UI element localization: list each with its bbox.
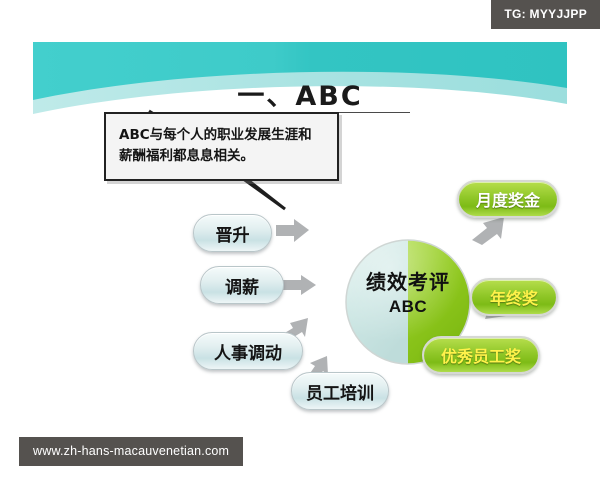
arrow-promotion-to-core: [276, 218, 310, 244]
callout-box: ABC与每个人的职业发展生涯和 薪酬福利都息息相关。: [104, 112, 339, 181]
node-promotion[interactable]: 晋升: [193, 214, 272, 252]
node-promotion-label: 晋升: [216, 221, 250, 246]
node-excellent-employee-award[interactable]: 优秀员工奖: [422, 336, 540, 374]
arrow-salary-to-core: [283, 274, 317, 296]
node-monthly-bonus[interactable]: 月度奖金: [457, 180, 559, 218]
callout-line-2: 薪酬福利都息息相关。: [119, 146, 325, 167]
node-excellent-employee-award-label: 优秀员工奖: [441, 343, 521, 367]
site-watermark: www.zh-hans-macauvenetian.com: [19, 437, 243, 466]
node-salary-adjustment[interactable]: 调薪: [200, 266, 284, 304]
node-year-end-bonus-label: 年终奖: [490, 285, 538, 309]
callout-line-1: ABC与每个人的职业发展生涯和: [119, 125, 325, 146]
node-employee-training[interactable]: 员工培训: [291, 372, 389, 410]
arrow-monthly-bonus-to-core: [471, 216, 509, 246]
node-salary-adjustment-label: 调薪: [225, 273, 259, 298]
node-personnel-transfer-label: 人事调动: [214, 339, 282, 364]
tg-badge: TG: MYYJJPP: [491, 0, 600, 29]
page-title: 一、ABC: [33, 74, 567, 113]
slide-canvas: 一、ABC ABC与每个人的职业发展生涯和 薪酬福利都息息相关。: [33, 42, 567, 428]
node-employee-training-label: 员工培训: [306, 379, 374, 404]
node-monthly-bonus-label: 月度奖金: [476, 187, 540, 211]
node-personnel-transfer[interactable]: 人事调动: [193, 332, 303, 370]
callout-bubble: ABC与每个人的职业发展生涯和 薪酬福利都息息相关。: [104, 112, 339, 181]
node-year-end-bonus[interactable]: 年终奖: [470, 278, 558, 316]
